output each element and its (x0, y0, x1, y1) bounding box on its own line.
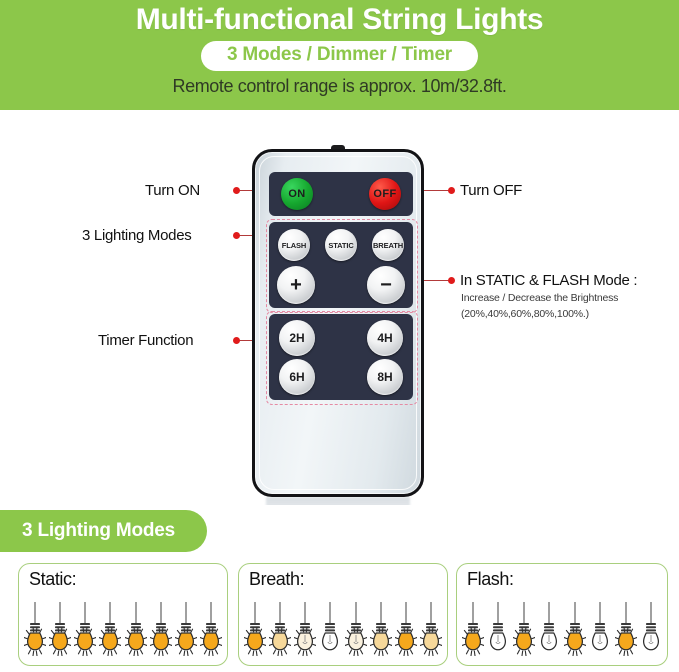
bulb-icon (370, 602, 392, 656)
bulb-icon (640, 602, 662, 656)
mode-box-breath: Breath: (238, 563, 448, 666)
bulb-icon (420, 602, 442, 656)
bulb-full (24, 602, 46, 656)
timer-2h-button[interactable]: 2H (279, 320, 315, 356)
page-header: Multi-functional String Lights 3 Modes /… (0, 0, 679, 110)
mode-box-static: Static: (18, 563, 228, 666)
bulb-icon (99, 602, 121, 656)
timer-6h-button[interactable]: 6H (279, 359, 315, 395)
callout-turn-on: Turn ON (145, 182, 200, 199)
bulb-mid (269, 602, 291, 656)
bulb-full (513, 602, 535, 656)
lighting-modes-heading: 3 Lighting Modes (0, 510, 207, 552)
leader-dot-brightness (448, 277, 455, 284)
bulb-icon (125, 602, 147, 656)
callout-turn-off: Turn OFF (460, 182, 522, 199)
bulb-icon (462, 602, 484, 656)
bulb-mid (420, 602, 442, 656)
bulb-icon (345, 602, 367, 656)
brightness-increase-button[interactable]: + (277, 266, 315, 304)
brightness-decrease-button[interactable]: − (367, 266, 405, 304)
bulb-off (538, 602, 560, 656)
bulb-off (589, 602, 611, 656)
leader-dot-turn-off (448, 187, 455, 194)
callout-brightness-line2: (20%,40%,60%,80%,100%.) (461, 308, 589, 320)
bulb-icon (564, 602, 586, 656)
bulb-off (319, 602, 341, 656)
bulb-off (640, 602, 662, 656)
bulb-full (395, 602, 417, 656)
bulb-full (564, 602, 586, 656)
bulb-faint (345, 602, 367, 656)
feature-badge: 3 Modes / Dimmer / Timer (201, 41, 478, 71)
mode-box-flash: Flash: (456, 563, 668, 666)
bulb-icon (615, 602, 637, 656)
leader-dot-lighting-modes (233, 232, 240, 239)
remote-control: ON OFF FLASH STATIC BREATH + − 2H 4H 6H … (252, 145, 424, 505)
bulb-row-flash (460, 602, 664, 660)
mode-box-breath-title: Breath: (249, 569, 304, 590)
callout-lighting-modes: 3 Lighting Modes (82, 227, 191, 244)
callout-timer-function: Timer Function (98, 332, 193, 349)
bulb-full (74, 602, 96, 656)
bulb-full (615, 602, 637, 656)
timer-4h-button[interactable]: 4H (367, 320, 403, 356)
off-button[interactable]: OFF (369, 178, 401, 210)
bulb-mid (370, 602, 392, 656)
bulb-full (49, 602, 71, 656)
bulb-icon (513, 602, 535, 656)
leader-dot-turn-on (233, 187, 240, 194)
breath-button[interactable]: BREATH (372, 229, 404, 261)
bulb-icon (175, 602, 197, 656)
timer-8h-button[interactable]: 8H (367, 359, 403, 395)
power-panel: ON OFF (269, 172, 413, 216)
on-button[interactable]: ON (281, 178, 313, 210)
bulb-faint (294, 602, 316, 656)
bulb-icon (589, 602, 611, 656)
bulb-full (200, 602, 222, 656)
bulb-icon (487, 602, 509, 656)
bulb-row-breath (242, 602, 444, 660)
bulb-full (125, 602, 147, 656)
remote-diagram-stage: Turn ON 3 Lighting Modes Timer Function … (0, 110, 679, 505)
bulb-icon (244, 602, 266, 656)
flash-button[interactable]: FLASH (278, 229, 310, 261)
leader-dot-timer-function (233, 337, 240, 344)
bulb-row-static (22, 602, 224, 660)
timer-panel: 2H 4H 6H 8H (269, 314, 413, 400)
bulb-icon (294, 602, 316, 656)
page-title: Multi-functional String Lights (136, 3, 544, 37)
static-button[interactable]: STATIC (325, 229, 357, 261)
callout-brightness-title: In STATIC & FLASH Mode : (460, 272, 637, 289)
lighting-modes-section: 3 Lighting Modes Static: Breath: Flash: (0, 505, 679, 672)
bulb-full (175, 602, 197, 656)
mode-box-flash-title: Flash: (467, 569, 514, 590)
bulb-icon (24, 602, 46, 656)
header-subtitle: Remote control range is approx. 10m/32.8… (173, 76, 507, 97)
callout-brightness-line1: Increase / Decrease the Brightness (461, 292, 618, 304)
bulb-full (462, 602, 484, 656)
remote-body: ON OFF FLASH STATIC BREATH + − 2H 4H 6H … (252, 149, 424, 497)
bulb-icon (269, 602, 291, 656)
mode-box-static-title: Static: (29, 569, 76, 590)
bulb-icon (319, 602, 341, 656)
bulb-full (244, 602, 266, 656)
bulb-off (487, 602, 509, 656)
bulb-icon (150, 602, 172, 656)
bulb-icon (49, 602, 71, 656)
bulb-icon (395, 602, 417, 656)
bulb-full (150, 602, 172, 656)
modes-dimmer-panel: FLASH STATIC BREATH + − (269, 222, 413, 308)
bulb-full (99, 602, 121, 656)
bulb-icon (538, 602, 560, 656)
bulb-icon (200, 602, 222, 656)
bulb-icon (74, 602, 96, 656)
